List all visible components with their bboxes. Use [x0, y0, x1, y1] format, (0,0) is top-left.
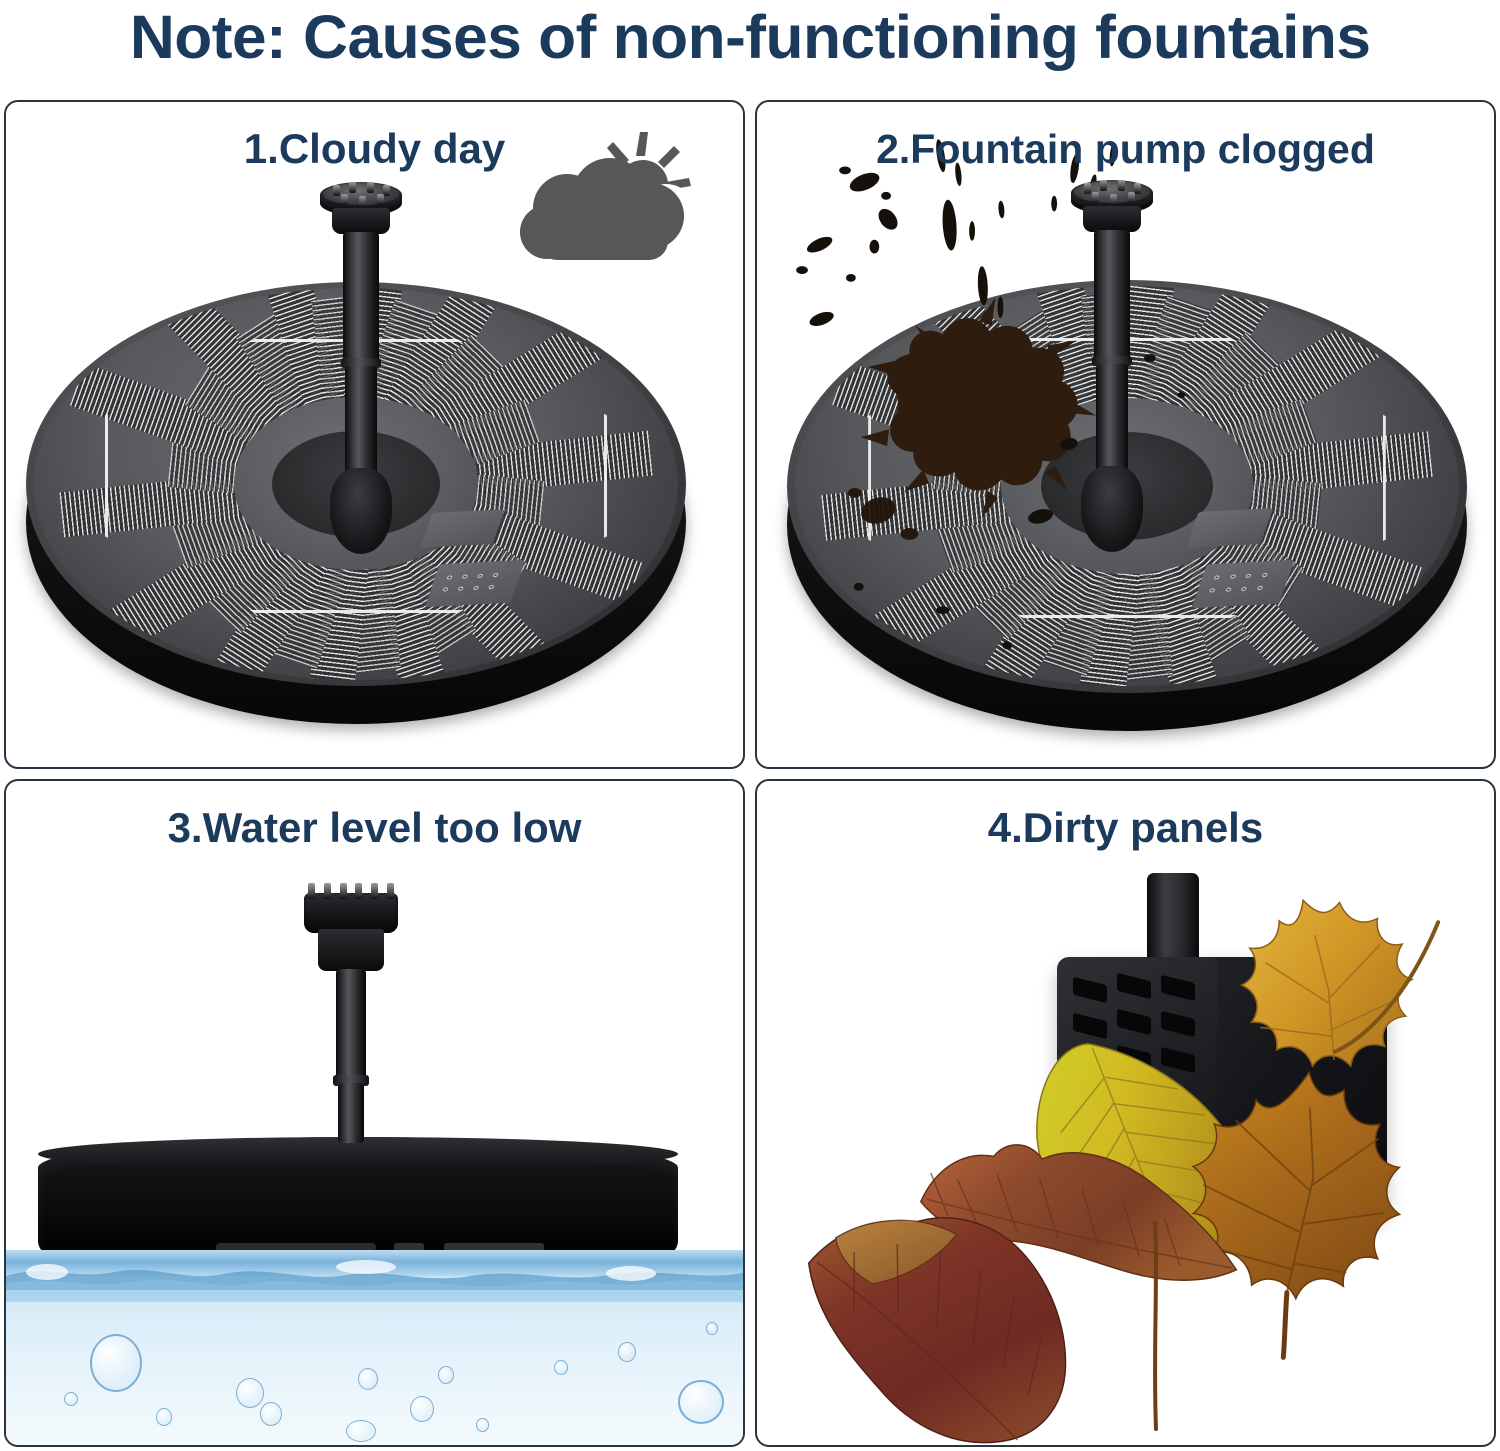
water-bubble [706, 1322, 718, 1335]
nozzle-stem-lower [345, 366, 377, 476]
water-bubble [678, 1380, 724, 1424]
water-body [6, 1250, 743, 1445]
infographic-root: Note: Causes of non-functioning fountain… [0, 0, 1500, 1451]
leaf-dark-red-curled [785, 1184, 1129, 1447]
water-bubble [358, 1368, 378, 1390]
stem-foot [330, 468, 392, 554]
nozzle-stem-lower [1096, 364, 1128, 474]
water-bubble [64, 1392, 78, 1406]
fountain-nozzle-assembly-side [296, 893, 406, 1213]
nozzle-skirt [318, 929, 384, 971]
pump-outlet-nozzle [1147, 873, 1199, 969]
solar-fountain-with-mud [757, 102, 1494, 767]
solder-dot [488, 585, 495, 589]
pump-with-leaves [757, 781, 1494, 1446]
solder-dot [1213, 576, 1220, 580]
solder-pad [1186, 508, 1273, 548]
solder-dot [1257, 586, 1264, 590]
water-bubble [346, 1420, 376, 1442]
panel-cloudy-day: 1.Cloudy day [4, 100, 745, 769]
panel-1-title: 1.Cloudy day [6, 124, 743, 174]
panel-water-level-low: 3.Water level too low [4, 779, 745, 1448]
solder-dot [473, 586, 480, 590]
solder-dot [442, 588, 449, 592]
leaf-long-stem [1152, 1221, 1158, 1431]
nozzle-skirt [1083, 206, 1141, 232]
stem-foot [1081, 466, 1143, 552]
panel-4-title: 4.Dirty panels [757, 803, 1494, 853]
cause-panel-grid: 1.Cloudy day [4, 100, 1496, 1447]
fountain-nozzle-assembly [1057, 180, 1167, 650]
nozzle-stem-lower [338, 1083, 364, 1143]
fountain-nozzle-assembly [306, 182, 416, 652]
panel-dirty-panels: 4.Dirty panels [755, 779, 1496, 1448]
nozzle-top-face [1074, 181, 1149, 203]
solder-dot [462, 575, 469, 579]
solder-dot [1241, 586, 1248, 590]
solder-dot [1229, 575, 1236, 579]
water-bubble [260, 1402, 282, 1426]
nozzle-stem-upper [343, 232, 379, 362]
water-bubble [438, 1366, 454, 1384]
panel-2-title: 2.Fountain pump clogged [757, 124, 1494, 174]
solder-dot [1245, 574, 1252, 578]
solder-dot [1209, 588, 1216, 592]
solder-dot [492, 573, 499, 577]
solder-dot [1261, 573, 1268, 577]
page-title: Note: Causes of non-functioning fountain… [130, 0, 1371, 72]
leaf-stem [1274, 1292, 1297, 1357]
panel-3-title: 3.Water level too low [6, 803, 743, 853]
water-bubble [476, 1418, 489, 1432]
water-bubble [156, 1408, 172, 1426]
solder-pad-secondary [1191, 560, 1294, 608]
nozzle-top-face [323, 183, 398, 205]
nozzle-skirt [332, 208, 390, 234]
solder-pad [420, 509, 505, 548]
panel-pump-clogged: 2.Fountain pump clogged [755, 100, 1496, 769]
water-bubble [236, 1378, 264, 1408]
solder-pad-secondary [425, 560, 526, 607]
solder-dot [1225, 587, 1232, 591]
water-bubble [554, 1360, 568, 1375]
solder-dot [477, 574, 484, 578]
nozzle-stem [336, 969, 366, 1079]
solder-dot [457, 587, 464, 591]
nozzle-cap [304, 893, 398, 933]
page-header: Note: Causes of non-functioning fountain… [0, 0, 1500, 95]
nozzle-stem-upper [1094, 230, 1130, 360]
water-bubble [410, 1396, 434, 1422]
fountain-side-view [6, 781, 743, 1446]
water-bubble [618, 1342, 636, 1362]
solder-dot [446, 575, 453, 579]
water-bubble [90, 1334, 142, 1392]
